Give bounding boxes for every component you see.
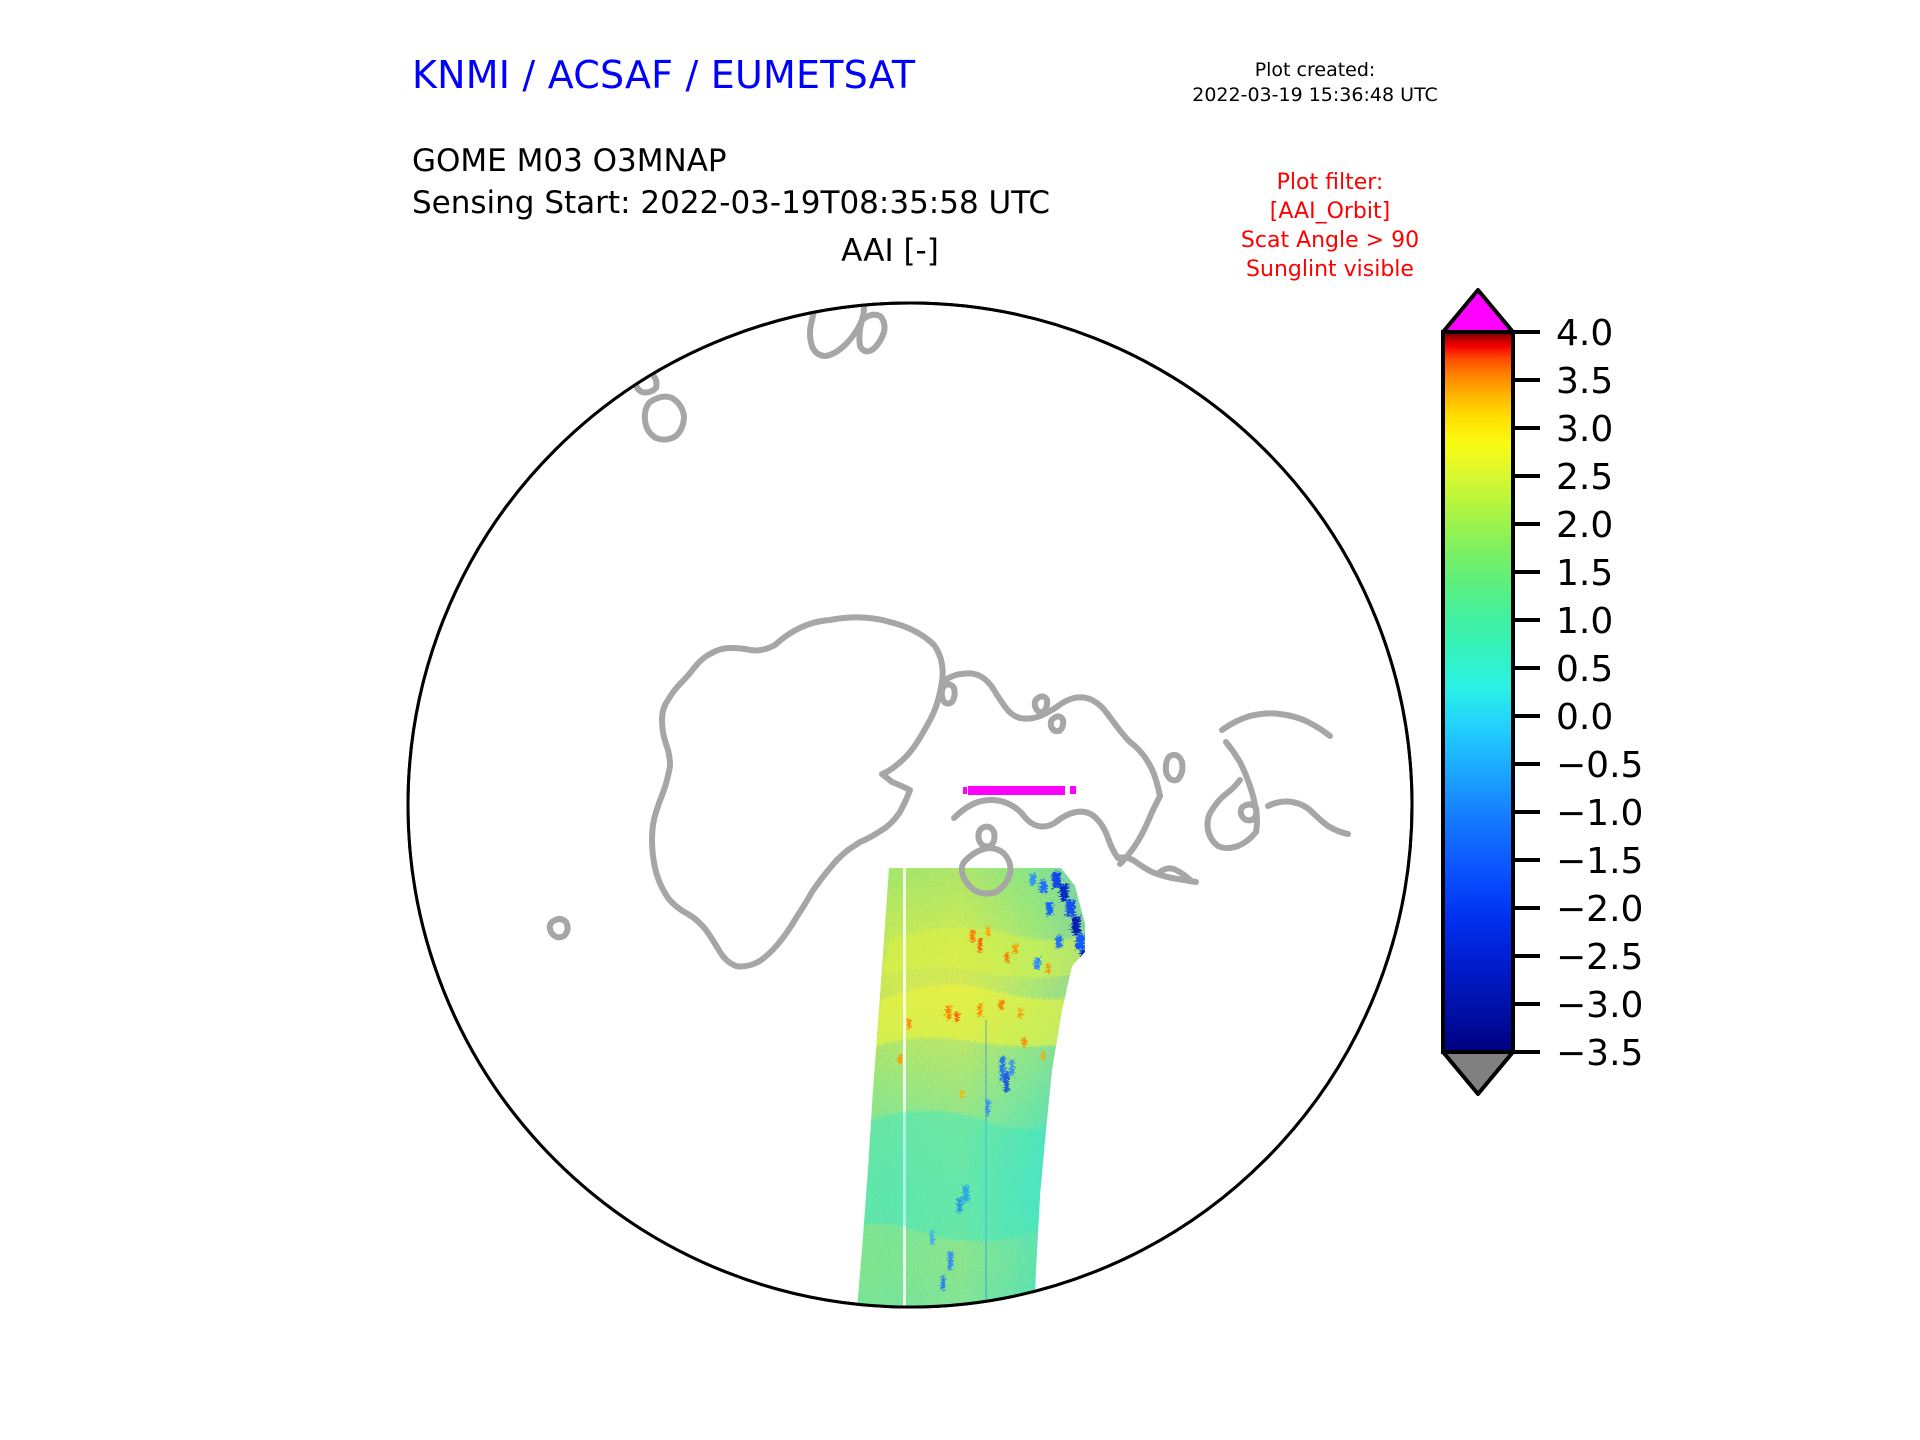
colorbar-tick-label: −1.0	[1556, 793, 1643, 834]
plot-page: KNMI / ACSAF / EUMETSAT Plot created: 20…	[0, 0, 1920, 1440]
colorbar-tick-label: −1.5	[1556, 841, 1643, 882]
scan-seam	[903, 862, 906, 1332]
colorbar-tick-label: −2.5	[1556, 937, 1643, 978]
map-canvas	[0, 0, 1430, 1440]
colorbar-tick-label: −0.5	[1556, 745, 1643, 786]
colorbar-tick-label: 2.0	[1556, 505, 1613, 546]
colorbar-tick-label: 1.0	[1556, 601, 1613, 642]
colorbar-tick-label: 4.0	[1556, 313, 1613, 354]
colorbar-canvas: 4.03.53.02.52.01.51.00.50.0−0.5−1.0−1.5−…	[1430, 280, 1850, 1340]
colorbar-tick-label: 0.0	[1556, 697, 1613, 738]
colorbar-under-range-arrow	[1443, 1052, 1513, 1094]
colorbar-panel[interactable]: 4.03.53.02.52.01.51.00.50.0−0.5−1.0−1.5−…	[1430, 280, 1850, 1340]
colorbar-tick-label: 3.0	[1556, 409, 1613, 450]
colorbar-tick-label: −3.5	[1556, 1033, 1643, 1074]
colorbar-tick-label: −2.0	[1556, 889, 1643, 930]
map-panel	[0, 0, 1430, 1440]
colorbar-tick-label: 3.5	[1556, 361, 1613, 402]
colorbar-ticks: 4.03.53.02.52.01.51.00.50.0−0.5−1.0−1.5−…	[1513, 313, 1643, 1074]
colorbar-over-range-arrow	[1443, 290, 1513, 332]
over-range-feature	[963, 786, 1076, 795]
colorbar-tick-label: 2.5	[1556, 457, 1613, 498]
colorbar-tick-label: 1.5	[1556, 553, 1613, 594]
colorbar-gradient	[1443, 332, 1513, 1052]
colorbar-tick-label: 0.5	[1556, 649, 1613, 690]
colorbar-tick-label: −3.0	[1556, 985, 1643, 1026]
